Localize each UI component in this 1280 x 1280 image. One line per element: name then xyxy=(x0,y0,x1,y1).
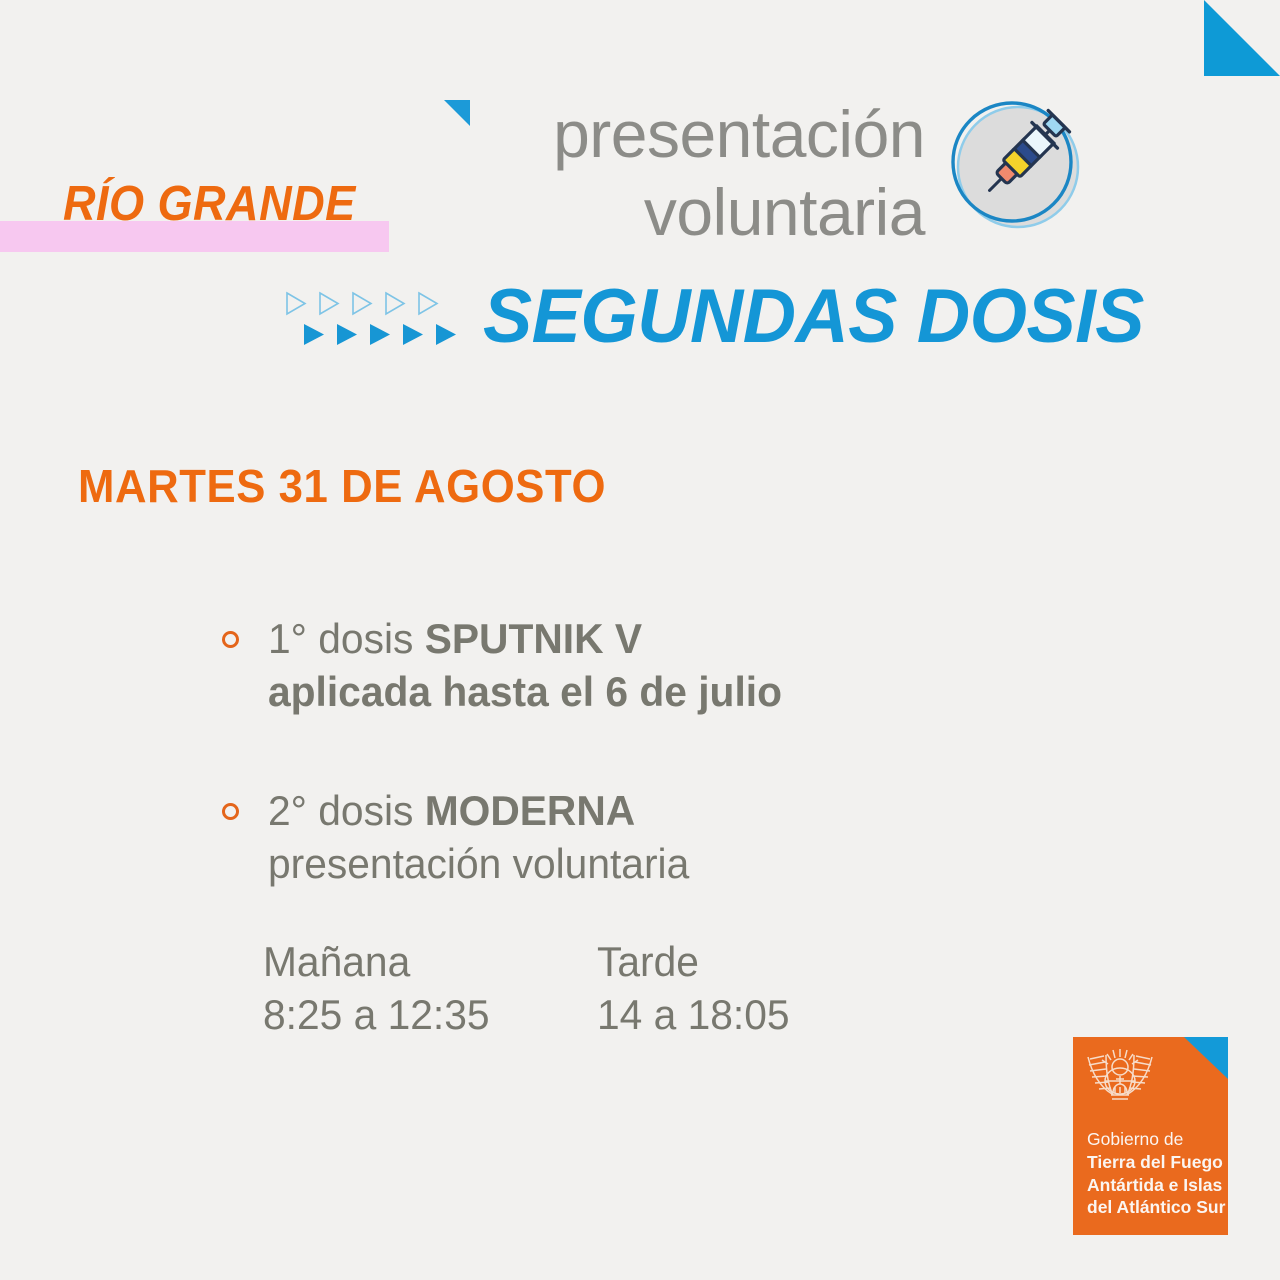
list-item: 2° dosis MODERNA presentación voluntaria xyxy=(222,785,922,891)
triangle-outline-icon xyxy=(285,291,307,316)
dose-primary-line: 2° dosis MODERNA xyxy=(268,785,902,838)
schedule-hours: 14 a 18:05 xyxy=(597,989,857,1042)
triangle-solid-icon xyxy=(303,323,325,346)
schedule-morning: Mañana 8:25 a 12:35 xyxy=(263,936,523,1042)
page-title-city: RÍO GRANDE xyxy=(63,176,356,232)
circle-bullet-icon xyxy=(222,803,239,820)
dose-list: 1° dosis SPUTNIK V aplicada hasta el 6 d… xyxy=(222,613,922,957)
dose-prefix: 2° dosis xyxy=(268,787,425,834)
logo-line-4: del Atlántico Sur xyxy=(1087,1196,1227,1219)
schedule-block: Mañana 8:25 a 12:35 Tarde 14 a 18:05 xyxy=(263,936,865,1042)
triangle-solid-icon xyxy=(402,323,424,346)
schedule-period-label: Tarde xyxy=(597,936,857,989)
header-subtitle-line2: voluntaria xyxy=(430,174,925,252)
dose-secondary-line: presentación voluntaria xyxy=(268,838,902,891)
triangle-outline-icon xyxy=(351,291,373,316)
schedule-hours: 8:25 a 12:35 xyxy=(263,989,523,1042)
logo-line-2: Tierra del Fuego xyxy=(1087,1151,1227,1174)
triangle-outline-icon xyxy=(384,291,406,316)
headline: SEGUNDAS DOSIS xyxy=(483,273,1144,360)
list-item: 1° dosis SPUTNIK V aplicada hasta el 6 d… xyxy=(222,613,922,719)
header-subtitle: presentación voluntaria xyxy=(430,96,925,252)
triangle-row-solid xyxy=(303,323,457,346)
triangle-row-outline xyxy=(285,291,439,316)
date-label: MARTES 31 DE AGOSTO xyxy=(78,459,606,513)
logo-line-3: Antártida e Islas xyxy=(1087,1174,1227,1197)
dose-brand: SPUTNIK V xyxy=(425,615,642,662)
logo-line-1: Gobierno de xyxy=(1087,1128,1227,1151)
circle-bullet-icon xyxy=(222,631,239,648)
triangle-solid-icon xyxy=(336,323,358,346)
syringe-icon xyxy=(940,90,1090,240)
header-subtitle-line1: presentación xyxy=(430,96,925,174)
corner-triangle-decoration xyxy=(1204,0,1280,76)
dose-prefix: 1° dosis xyxy=(268,615,425,662)
triangle-solid-icon xyxy=(369,323,391,346)
triangle-outline-icon xyxy=(318,291,340,316)
argentina-coat-of-arms-icon xyxy=(1086,1043,1154,1115)
schedule-period-label: Mañana xyxy=(263,936,523,989)
triangle-outline-icon xyxy=(417,291,439,316)
schedule-afternoon: Tarde 14 a 18:05 xyxy=(597,936,857,1042)
government-logo-text: Gobierno de Tierra del Fuego Antártida e… xyxy=(1087,1128,1227,1219)
triangle-solid-icon xyxy=(435,323,457,346)
dose-secondary-line: aplicada hasta el 6 de julio xyxy=(268,666,902,719)
dose-brand: MODERNA xyxy=(425,787,635,834)
dose-primary-line: 1° dosis SPUTNIK V xyxy=(268,613,902,666)
triangle-bullet-decoration xyxy=(285,291,465,351)
